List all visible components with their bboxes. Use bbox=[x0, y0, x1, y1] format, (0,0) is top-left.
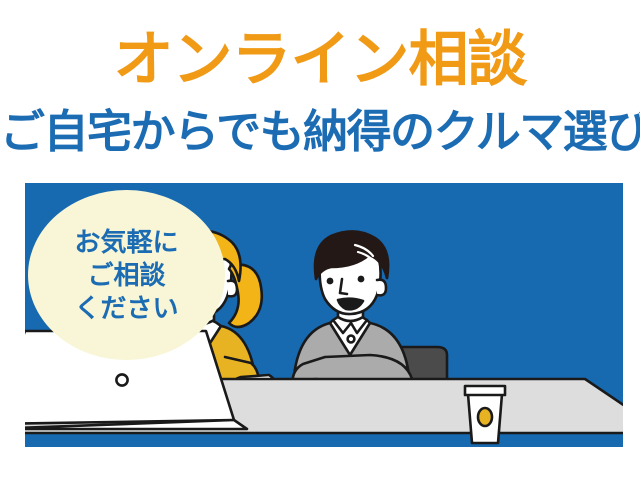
page-title: オンライン相談 bbox=[0, 26, 640, 94]
consultation-badge: お気軽に ご相談 ください bbox=[28, 190, 225, 360]
coffee-cup-lid bbox=[465, 386, 505, 395]
laptop-logo-icon bbox=[116, 374, 127, 385]
man-shirt-button bbox=[348, 336, 355, 343]
man-ear bbox=[377, 280, 386, 296]
online-consultation-banner: オンライン相談 ご自宅からでも納得のクルマ選びを bbox=[0, 0, 640, 480]
badge-line-1: お気軽に bbox=[74, 226, 178, 259]
badge-line-2: ご相談 bbox=[87, 259, 165, 292]
page-subtitle: ご自宅からでも納得のクルマ選びを bbox=[0, 106, 640, 158]
man-eye-right bbox=[358, 276, 365, 283]
man-eye-left bbox=[327, 278, 334, 285]
badge-line-3: ください bbox=[74, 292, 178, 325]
illustration-panel: お気軽に ご相談 ください bbox=[25, 183, 623, 447]
coffee-cup-logo-icon bbox=[478, 408, 492, 426]
